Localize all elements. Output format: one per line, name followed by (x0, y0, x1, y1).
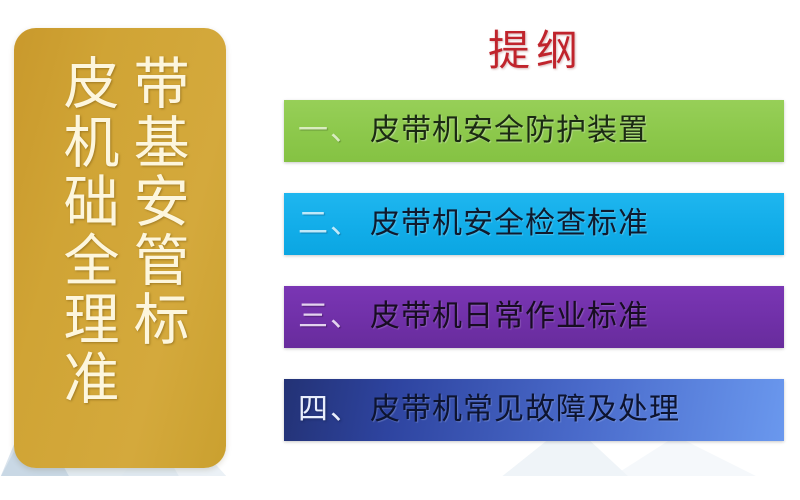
outline-item-2[interactable]: 二、 皮带机安全检查标准 (284, 193, 784, 255)
outline-item-3[interactable]: 三、 皮带机日常作业标准 (284, 286, 784, 348)
outline-item-1-label: 皮带机安全防护装置 (370, 116, 649, 146)
outline-item-4-label: 皮带机常见故障及处理 (370, 395, 680, 425)
outline-item-1[interactable]: 一、 皮带机安全防护装置 (284, 100, 784, 162)
slide-title-panel: 带基安管标 皮机础全理准 (14, 28, 226, 468)
outline-heading: 提纲 (284, 30, 788, 72)
outline-item-3-label: 皮带机日常作业标准 (370, 302, 649, 332)
outline-item-2-index: 二、 (298, 209, 362, 239)
presentation-slide: 带基安管标 皮机础全理准 提纲 一、 皮带机安全防护装置 二、 皮带机安全检查标… (0, 0, 800, 500)
slide-bottom-margin (0, 476, 800, 500)
title-column-left: 皮机础全理准 (53, 54, 119, 408)
outline-item-2-label: 皮带机安全检查标准 (370, 209, 649, 239)
outline-item-4[interactable]: 四、 皮带机常见故障及处理 (284, 379, 784, 441)
slide-content: 提纲 一、 皮带机安全防护装置 二、 皮带机安全检查标准 三、 皮带机日常作业标… (248, 18, 788, 478)
outline-list: 一、 皮带机安全防护装置 二、 皮带机安全检查标准 三、 皮带机日常作业标准 四… (284, 100, 784, 441)
outline-item-3-index: 三、 (298, 302, 362, 332)
title-column-right: 带基安管标 (123, 54, 189, 349)
outline-item-1-index: 一、 (298, 116, 362, 146)
outline-item-4-index: 四、 (298, 395, 362, 425)
